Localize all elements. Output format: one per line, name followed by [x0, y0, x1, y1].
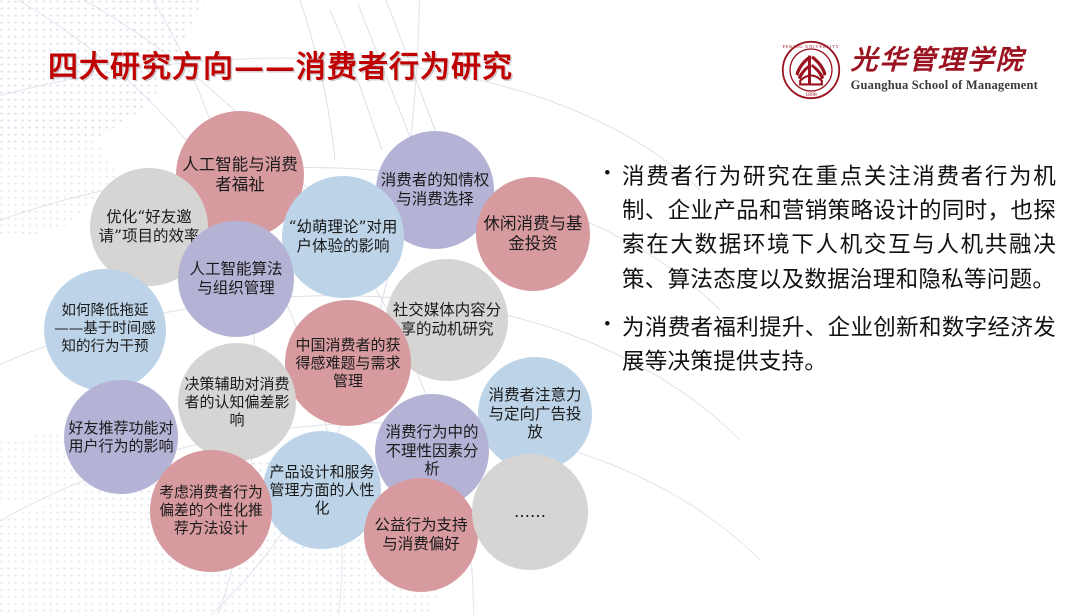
bubble-label: 中国消费者的获得感难题与需求管理 — [289, 336, 407, 391]
bubble-label: 产品设计和服务管理方面的人性化 — [267, 463, 377, 518]
bullet-text: 消费者行为研究在重点关注消费者行为机制、企业产品和营销策略设计的同时，也探索在大… — [622, 160, 1056, 297]
bullet-marker-icon: • — [604, 160, 622, 189]
logo: 1898 PEKING UNIVERSITY 光华管理学院 Guanghua S… — [781, 40, 1038, 100]
bubble-leisure-consumption-fund[interactable]: 休闲消费与基金投资 — [476, 177, 590, 291]
bubble-label: 消费者的知情权与消费选择 — [380, 171, 490, 209]
logo-name-en: Guanghua School of Management — [851, 78, 1038, 93]
bubble-label: 公益行为支持与消费偏好 — [368, 516, 474, 554]
bubble-label: 人工智能算法与组织管理 — [182, 260, 290, 298]
logo-name-cn: 光华管理学院 — [851, 47, 1038, 75]
bubble-label: 决策辅助对消费者的认知偏差影响 — [182, 375, 292, 430]
description-list: •消费者行为研究在重点关注消费者行为机制、企业产品和营销策略设计的同时，也探索在… — [604, 160, 1056, 393]
bubble-decision-aid-bias[interactable]: 决策辅助对消费者的认知偏差影响 — [178, 343, 296, 461]
bubble-cute-theory-ux[interactable]: “幼萌理论”对用户体验的影响 — [282, 176, 404, 298]
bubble-ellipsis[interactable]: …… — [472, 454, 588, 570]
page-title: 四大研究方向——消费者行为研究 — [48, 42, 513, 86]
bullet-item: •消费者行为研究在重点关注消费者行为机制、企业产品和营销策略设计的同时，也探索在… — [604, 160, 1056, 297]
seal-year: 1898 — [805, 92, 817, 98]
bubble-charity-behavior[interactable]: 公益行为支持与消费偏好 — [364, 478, 478, 592]
bubble-china-consumer-gain[interactable]: 中国消费者的获得感难题与需求管理 — [285, 300, 411, 426]
bubble-label: 如何降低拖延——基于时间感知的行为干预 — [48, 303, 162, 356]
bubble-label: 优化“好友邀请”项目的效率 — [94, 208, 204, 246]
logo-text-block: 光华管理学院 Guanghua School of Management — [851, 47, 1038, 92]
bubble-reduce-procrastination[interactable]: 如何降低拖延——基于时间感知的行为干预 — [44, 269, 166, 391]
bubble-label: 休闲消费与基金投资 — [480, 214, 586, 254]
bullet-item: •为消费者福利提升、企业创新和数字经济发展等决策提供支持。 — [604, 311, 1056, 379]
bullet-text: 为消费者福利提升、企业创新和数字经济发展等决策提供支持。 — [622, 311, 1056, 379]
bubble-label: 消费者注意力与定向广告投放 — [482, 386, 588, 443]
bubble-label: 考虑消费者行为偏差的个性化推荐方法设计 — [154, 484, 268, 538]
bubble-personalized-recommendation[interactable]: 考虑消费者行为偏差的个性化推荐方法设计 — [150, 450, 272, 572]
bubble-ai-algorithm-org-mgmt[interactable]: 人工智能算法与组织管理 — [178, 221, 294, 337]
bubble-label: …… — [476, 502, 584, 522]
bullet-marker-icon: • — [604, 311, 622, 340]
slide-root: 四大研究方向——消费者行为研究 1898 PEKING UNIVERSITY 光… — [0, 0, 1080, 615]
bubble-label: “幼萌理论”对用户体验的影响 — [286, 218, 400, 256]
seal-university-text: PEKING UNIVERSITY — [782, 44, 839, 49]
bubble-label: 社交媒体内容分享的动机研究 — [390, 301, 504, 339]
bubble-label: 消费行为中的不理性因素分析 — [379, 423, 485, 480]
peking-university-seal-icon: 1898 PEKING UNIVERSITY — [781, 40, 841, 100]
bubble-label: 好友推荐功能对用户行为的影响 — [68, 419, 174, 456]
bubble-label: 人工智能与消费者福祉 — [180, 155, 300, 195]
bubble-cluster: 人工智能与消费者福祉优化“好友邀请”项目的效率消费者的知情权与消费选择休闲消费与… — [0, 95, 600, 615]
